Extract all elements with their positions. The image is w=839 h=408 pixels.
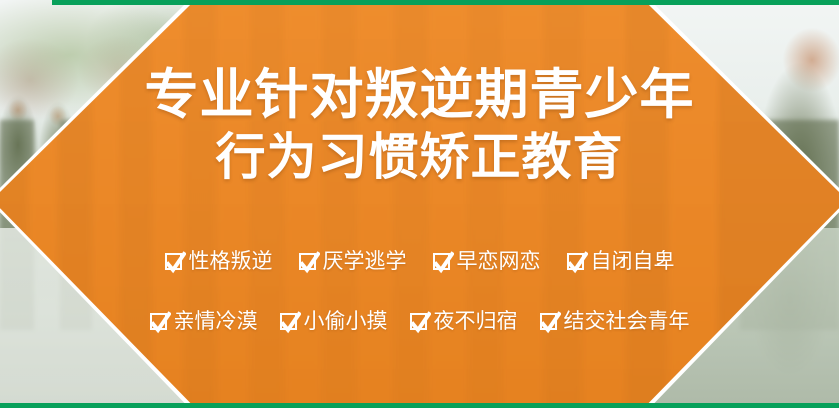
- tag-row-2: 亲情冷漠 小偷小摸 夜不归宿 结交社会青年: [0, 300, 839, 342]
- tag-label: 小偷小摸: [304, 311, 388, 332]
- tag-item: 亲情冷漠: [150, 311, 258, 332]
- tag-item: 早恋网恋: [433, 251, 541, 272]
- checkbox-checked-icon: [280, 313, 297, 330]
- tag-label: 厌学逃学: [323, 251, 407, 272]
- tag-item: 性格叛逆: [165, 251, 273, 272]
- tag-item: 结交社会青年: [540, 311, 690, 332]
- tag-item: 厌学逃学: [299, 251, 407, 272]
- checkbox-checked-icon: [540, 313, 557, 330]
- top-green-rule: [52, 0, 839, 5]
- checkbox-checked-icon: [150, 313, 167, 330]
- tag-label: 结交社会青年: [564, 311, 690, 332]
- headline: 专业针对叛逆期青少年 行为习惯矫正教育: [0, 64, 839, 188]
- checkbox-checked-icon: [433, 253, 450, 270]
- bottom-green-rule: [0, 403, 839, 408]
- tag-label: 性格叛逆: [189, 251, 273, 272]
- checkbox-checked-icon: [299, 253, 316, 270]
- banner-content: 专业针对叛逆期青少年 行为习惯矫正教育 性格叛逆 厌学逃学 早恋网恋: [0, 0, 839, 408]
- headline-line-1: 专业针对叛逆期青少年: [0, 64, 839, 126]
- tag-item: 夜不归宿: [410, 311, 518, 332]
- tag-item: 小偷小摸: [280, 311, 388, 332]
- checkbox-checked-icon: [410, 313, 427, 330]
- promo-banner: 专业针对叛逆期青少年 行为习惯矫正教育 性格叛逆 厌学逃学 早恋网恋: [0, 0, 839, 408]
- tag-label: 夜不归宿: [434, 311, 518, 332]
- checkbox-checked-icon: [567, 253, 584, 270]
- tag-list: 性格叛逆 厌学逃学 早恋网恋 自闭自卑 亲情冷漠: [0, 240, 839, 342]
- headline-line-2: 行为习惯矫正教育: [0, 126, 839, 188]
- tag-row-1: 性格叛逆 厌学逃学 早恋网恋 自闭自卑: [0, 240, 839, 282]
- tag-item: 自闭自卑: [567, 251, 675, 272]
- tag-label: 自闭自卑: [591, 251, 675, 272]
- tag-label: 亲情冷漠: [174, 311, 258, 332]
- checkbox-checked-icon: [165, 253, 182, 270]
- tag-label: 早恋网恋: [457, 251, 541, 272]
